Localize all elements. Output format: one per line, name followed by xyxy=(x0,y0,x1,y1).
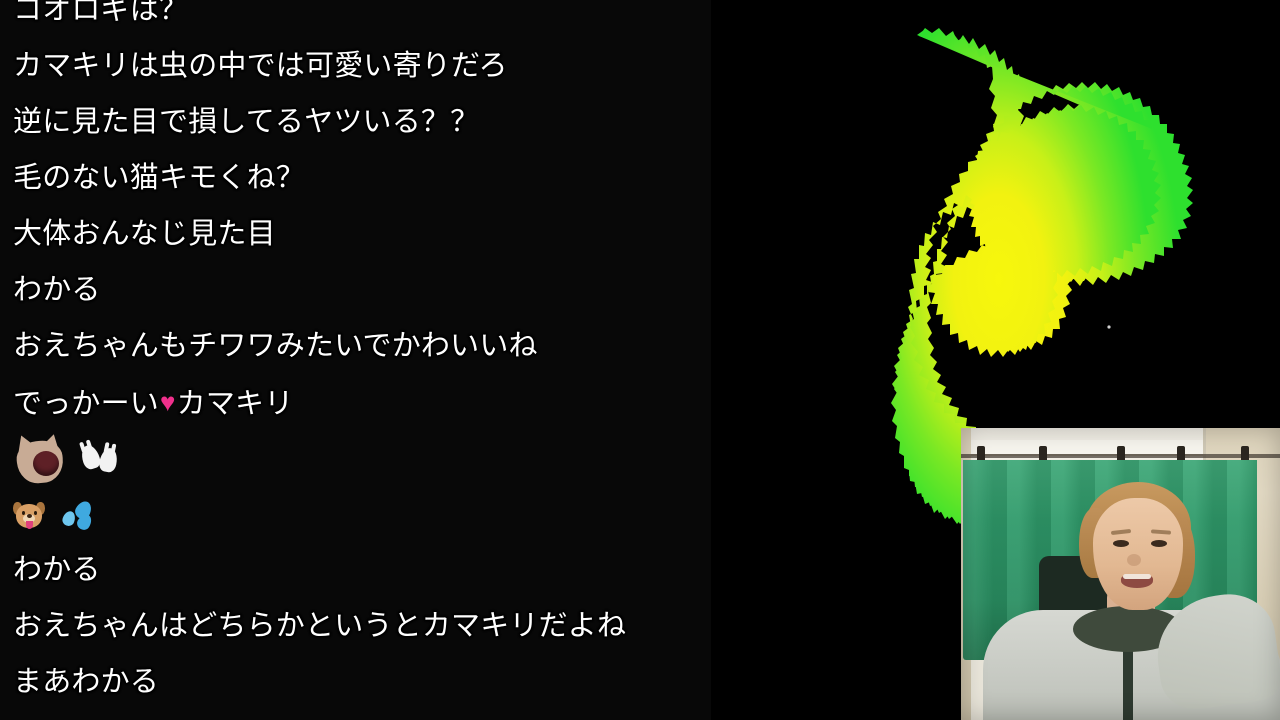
chat-message: おえちゃんもチワワみたいでかわいいね xyxy=(0,318,711,374)
chat-message: コオロギは？ xyxy=(0,0,711,38)
map-speck-dot xyxy=(1107,325,1110,328)
chat-message-text-after: カマキリ xyxy=(177,388,294,420)
streamer-webcam[interactable] xyxy=(961,428,1280,720)
dog-nose-icon xyxy=(27,514,32,518)
chat-message-with-heart: でっかーい♥カマキリ xyxy=(0,374,711,430)
chat-message: 毛のない猫キモくね？ xyxy=(0,150,711,206)
hand-right-icon xyxy=(98,447,120,474)
mouth xyxy=(1121,574,1153,588)
chat-message: まあわかる xyxy=(0,654,711,710)
chat-message-emoji-row xyxy=(0,486,711,542)
dog-eye-right-icon xyxy=(34,511,37,515)
nose xyxy=(1127,554,1141,566)
chat-message: 大体おんなじ見た目 xyxy=(0,206,711,262)
chat-message-list: コオロギは？ カマキリは虫の中では可愛い寄りだろ 逆に見た目で損してるヤツいる？… xyxy=(0,0,711,710)
streamer-face xyxy=(1093,498,1183,610)
chat-message: カマキリは虫の中では可愛い寄りだろ xyxy=(0,38,711,94)
stream-stage: コオロギは？ カマキリは虫の中では可愛い寄りだろ 逆に見た目で損してるヤツいる？… xyxy=(0,0,1280,720)
chat-message: わかる xyxy=(0,262,711,318)
chat-message: わかる xyxy=(0,542,711,598)
chat-panel: コオロギは？ カマキリは虫の中では可愛い寄りだろ 逆に見た目で損してるヤツいる？… xyxy=(0,0,711,720)
eye-left xyxy=(1113,540,1129,547)
chat-message: おえちゃんはどちらかというとカマキリだよね xyxy=(0,598,711,654)
screaming-cat-emoji xyxy=(13,435,67,485)
chat-message: 逆に見た目で損してるヤツいる？？ xyxy=(0,94,711,150)
chat-message-text-before: でっかーい xyxy=(13,388,159,420)
eye-right xyxy=(1151,540,1167,547)
raised-hands-emoji xyxy=(82,440,124,480)
heart-icon: ♥ xyxy=(159,387,177,417)
sweat-droplets-emoji xyxy=(62,501,102,531)
chat-message-emoji-row xyxy=(0,430,711,486)
dog-tongue-icon xyxy=(26,521,33,529)
dog-face-emoji xyxy=(13,501,45,531)
